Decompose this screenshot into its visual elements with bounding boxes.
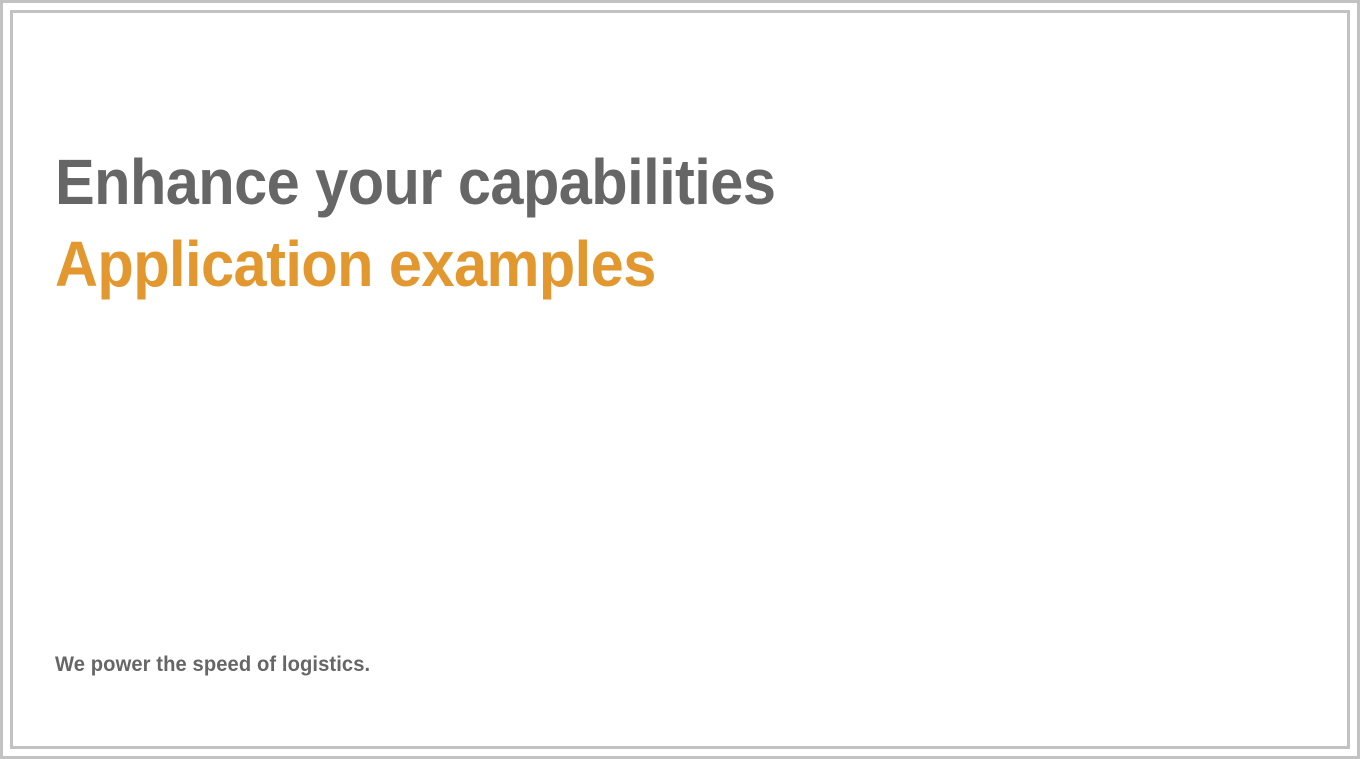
slide-title-block: Enhance your capabilities Application ex… <box>55 141 1155 305</box>
slide-title-line-1: Enhance your capabilities <box>55 141 1078 223</box>
slide-tagline: We power the speed of logistics. <box>55 652 370 678</box>
slide-content-region <box>55 313 1305 633</box>
slide-footer: We power the speed of logistics. <box>55 652 955 678</box>
slide-canvas: Enhance your capabilities Application ex… <box>13 13 1347 746</box>
presentation-slide: Enhance your capabilities Application ex… <box>0 0 1360 759</box>
slide-title-line-2: Application examples <box>55 223 1078 305</box>
